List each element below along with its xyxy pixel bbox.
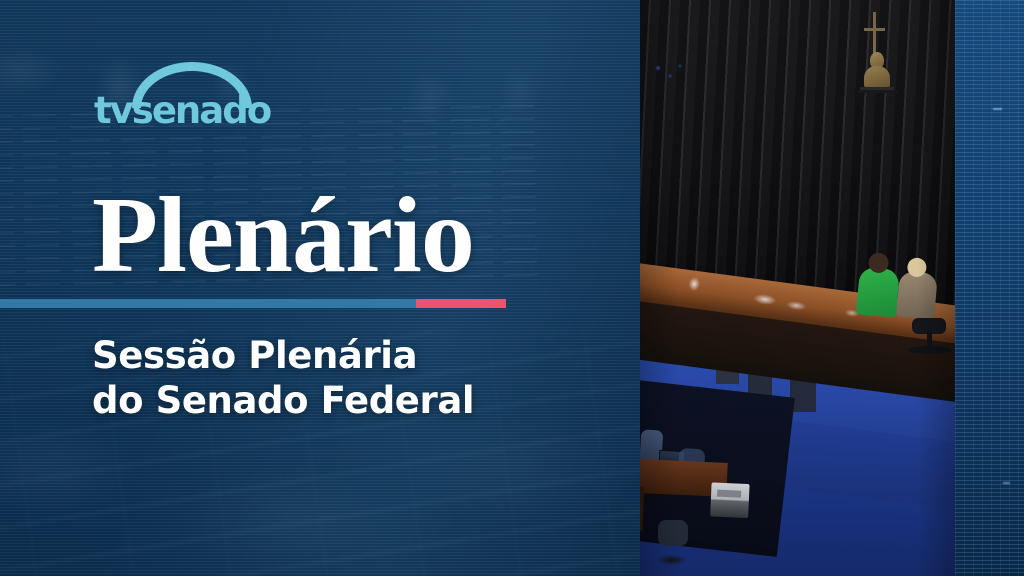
accent-rule-red-segment	[416, 299, 506, 308]
title-card-content: tvsenado Plenário Sessão Plenária do Sen…	[0, 0, 640, 576]
subtitle-line-2: do Senado Federal	[92, 379, 474, 424]
tvsenado-logo: tvsenado	[94, 62, 294, 134]
page-title: Plenário	[92, 182, 474, 290]
strip-highlight-upper	[993, 108, 1002, 110]
office-chair-lower	[650, 520, 694, 566]
subtitle: Sessão Plenária do Senado Federal	[92, 334, 474, 424]
broadcast-lower-third-card: tvsenado Plenário Sessão Plenária do Sen…	[0, 0, 1024, 576]
bust-sculpture	[864, 52, 890, 94]
accent-rule-blue-segment	[0, 299, 416, 308]
strip-highlight-lower	[1003, 482, 1010, 484]
office-chair-upper	[908, 318, 952, 364]
tvsenado-logo-text: tvsenado	[94, 92, 294, 129]
right-scanline-strip	[955, 0, 1024, 576]
person-beige-jacket	[896, 270, 938, 319]
bust-torso	[864, 66, 890, 88]
senate-plenary-chamber-photo	[640, 0, 955, 576]
printer	[710, 482, 749, 518]
chair-base	[908, 346, 952, 354]
subtitle-line-1: Sessão Plenária	[92, 334, 417, 377]
blue-indicator-lights	[654, 62, 684, 86]
person-green-jacket	[856, 266, 900, 317]
work-desk-leg	[640, 486, 644, 531]
accent-rule	[0, 299, 506, 308]
bust-bracket	[858, 90, 898, 93]
